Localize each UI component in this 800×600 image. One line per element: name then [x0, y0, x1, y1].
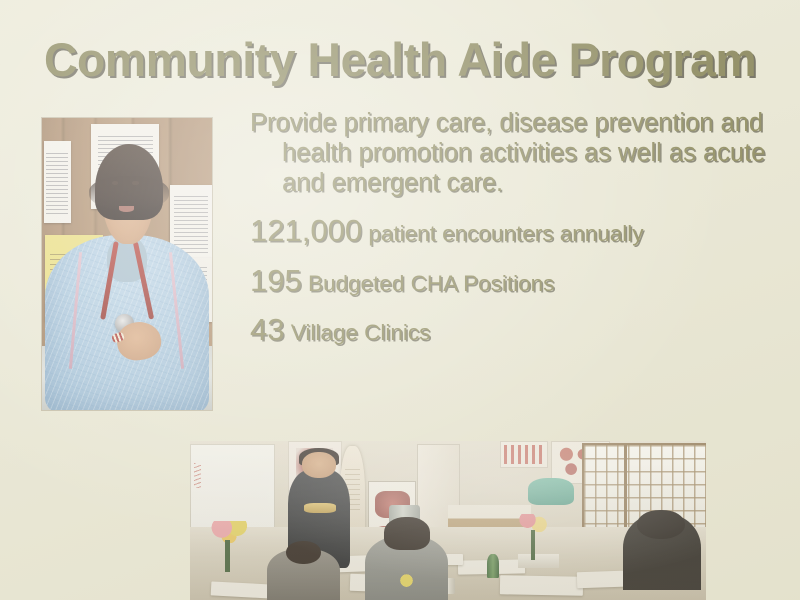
- bullet-scope: Provide primary care, disease prevention…: [250, 108, 770, 198]
- encounters-label: patient encounters annually: [362, 221, 643, 246]
- bottle: [487, 554, 499, 578]
- encounters-number: 121,000: [250, 213, 362, 248]
- bullet-clinics: 43 Village Clinics: [250, 312, 770, 349]
- open-book: [210, 581, 273, 599]
- wall-poster: [500, 441, 548, 468]
- flower-vase: [510, 514, 556, 562]
- shirt-graphic: [395, 572, 418, 591]
- eye: [112, 181, 119, 185]
- student-person: [267, 549, 339, 600]
- whiteboard-writing: [194, 463, 201, 488]
- health-aide-person: [42, 118, 212, 410]
- clinics-label: Village Clinics: [284, 320, 430, 345]
- green-bag: [528, 478, 574, 505]
- body-text-block: Provide primary care, disease prevention…: [250, 108, 770, 362]
- training-classroom-image: [190, 441, 706, 600]
- instructor-badge: [304, 503, 336, 513]
- slide: Community Health Aide Program: [0, 0, 800, 600]
- student-person: [623, 514, 700, 590]
- smiling-mouth: [119, 206, 134, 212]
- bullet-encounters: 121,000 patient encounters annually: [250, 213, 770, 250]
- positions-number: 195: [250, 263, 302, 298]
- bullet-positions: 195 Budgeted CHA Positions: [250, 263, 770, 300]
- whiteboard: [190, 444, 275, 529]
- page-title: Community Health Aide Program: [44, 32, 778, 88]
- positions-label: Budgeted CHA Positions: [302, 271, 555, 296]
- instructor-face: [302, 452, 337, 478]
- clinics-number: 43: [250, 312, 284, 347]
- eye: [132, 181, 139, 185]
- student-person: [365, 536, 448, 600]
- open-book: [499, 575, 582, 596]
- health-aide-portrait-image: [42, 118, 212, 410]
- flower-vase: [200, 521, 257, 575]
